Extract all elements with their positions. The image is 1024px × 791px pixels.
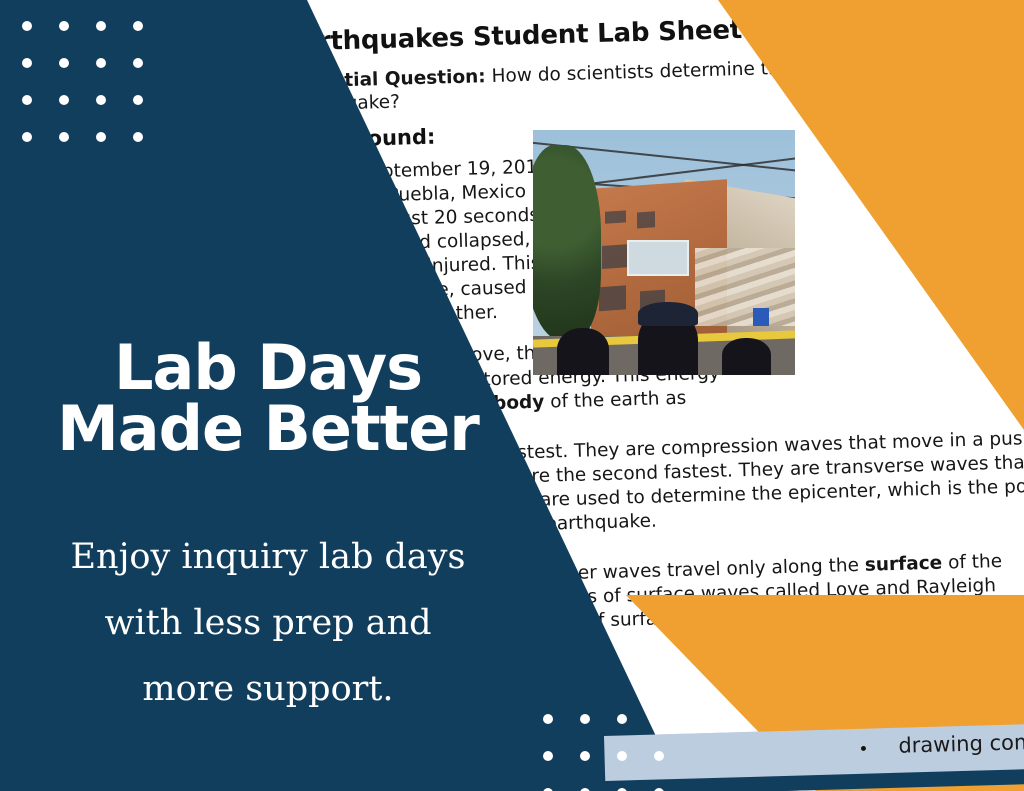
subtitle-line-1: Enjoy inquiry lab days bbox=[0, 525, 536, 591]
materials-item-label-overlay: drawing compass bbox=[898, 729, 1024, 758]
promo-graphic-canvas: Earthquakes Student Lab Sheet Essential … bbox=[0, 0, 1024, 791]
decorative-dot bbox=[580, 751, 590, 761]
decorative-dot bbox=[59, 21, 69, 31]
decorative-dot bbox=[654, 714, 664, 724]
essential-question-label: Essential Question: bbox=[284, 66, 486, 93]
photo-tree bbox=[533, 145, 601, 341]
decorative-dot bbox=[617, 714, 627, 724]
decorative-dot bbox=[133, 95, 143, 105]
document-title: Earthquakes Student Lab Sheet bbox=[282, 11, 1024, 58]
photo-person-head bbox=[722, 338, 772, 375]
photo-street-sign bbox=[753, 308, 769, 326]
decorative-dot bbox=[22, 95, 32, 105]
decorative-dot bbox=[654, 751, 664, 761]
decorative-dot bbox=[22, 21, 32, 31]
decorative-dot bbox=[133, 21, 143, 31]
decorative-dot bbox=[617, 751, 627, 761]
photo-window bbox=[599, 286, 626, 312]
decorative-dot bbox=[59, 132, 69, 142]
subtitle: Enjoy inquiry lab days with less prep an… bbox=[0, 525, 536, 722]
dot-grid-top-left bbox=[22, 21, 143, 142]
decorative-dot bbox=[133, 132, 143, 142]
decorative-dot bbox=[580, 714, 590, 724]
decorative-dot bbox=[543, 714, 553, 724]
decorative-dot bbox=[543, 751, 553, 761]
page-title: Lab Days Made Better bbox=[0, 338, 536, 460]
photo-window bbox=[637, 212, 655, 229]
decorative-dot bbox=[59, 58, 69, 68]
decorative-dot bbox=[96, 21, 106, 31]
subtitle-line-3: more support. bbox=[0, 657, 536, 723]
decorative-dot bbox=[96, 132, 106, 142]
decorative-dot bbox=[96, 58, 106, 68]
subtitle-line-2: with less prep and bbox=[0, 591, 536, 657]
p2-part-b: of the earth as bbox=[544, 387, 687, 412]
photo-window bbox=[604, 210, 626, 224]
photo-person-cap bbox=[638, 302, 698, 327]
decorative-dot bbox=[96, 95, 106, 105]
bullet-icon-overlay: • bbox=[858, 740, 869, 760]
p3-bold-surface: surface bbox=[865, 552, 943, 575]
photo-rubble-debris bbox=[695, 248, 795, 326]
p2-bold-s-waves: S waves bbox=[429, 466, 515, 489]
decorative-dot bbox=[22, 58, 32, 68]
photo-person-head bbox=[557, 328, 609, 375]
photo-glass-balcony bbox=[627, 240, 689, 276]
dot-grid-bottom-right bbox=[543, 714, 664, 791]
headline-line-2: Made Better bbox=[0, 399, 536, 460]
decorative-dot bbox=[22, 132, 32, 142]
decorative-dot bbox=[133, 58, 143, 68]
decorative-dot bbox=[59, 95, 69, 105]
essential-question: Essential Question: How do scientists de… bbox=[284, 51, 1024, 117]
collapsed-building-photo bbox=[533, 130, 795, 375]
